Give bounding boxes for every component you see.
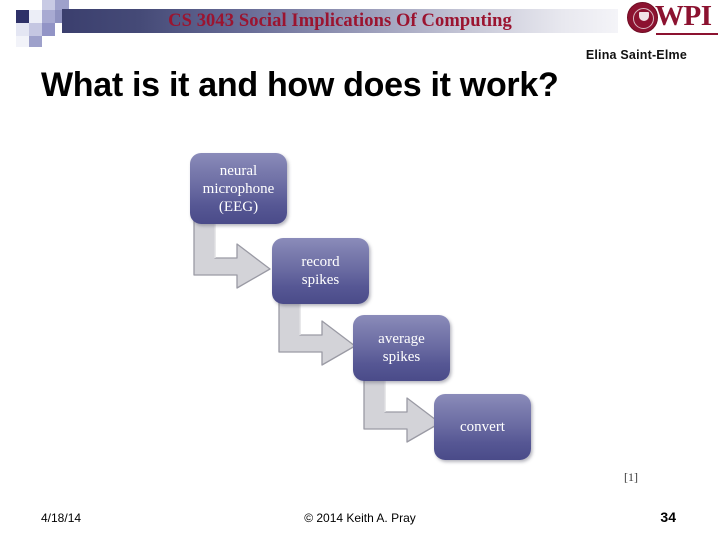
flow-box-label-line1: record <box>301 253 339 271</box>
flow-box-record-spikes[interactable]: record spikes <box>272 238 369 304</box>
slide-canvas: CS 3043 Social Implications Of Computing… <box>0 0 720 540</box>
flow-box-label: average spikes <box>378 330 425 366</box>
footer-copyright: © 2014 Keith A. Pray <box>0 511 720 525</box>
flow-box-average-spikes[interactable]: average spikes <box>353 315 450 381</box>
flow-box-label: record spikes <box>301 253 339 289</box>
flow-box-label: convert <box>460 418 505 436</box>
flow-box-label-line1: convert <box>460 418 505 436</box>
flow-arrow-2 <box>275 295 360 367</box>
flow-box-label-line2: microphone <box>203 180 275 198</box>
citation-marker: [1] <box>624 470 638 485</box>
flow-arrow-1 <box>190 218 275 290</box>
footer-page-number: 34 <box>660 509 676 525</box>
flow-box-label-line1: average <box>378 330 425 348</box>
flow-box-convert[interactable]: convert <box>434 394 531 460</box>
flow-box-label-line2: spikes <box>301 271 339 289</box>
flow-box-label: neural microphone (EEG) <box>203 162 275 216</box>
flow-box-label-line1: neural <box>203 162 275 180</box>
flow-box-neural-microphone[interactable]: neural microphone (EEG) <box>190 153 287 224</box>
flow-box-label-line3: (EEG) <box>203 198 275 216</box>
flow-box-label-line2: spikes <box>378 348 425 366</box>
flow-arrow-3 <box>360 372 445 444</box>
flowchart-diagram: neural microphone (EEG) record spikes av… <box>0 0 720 540</box>
